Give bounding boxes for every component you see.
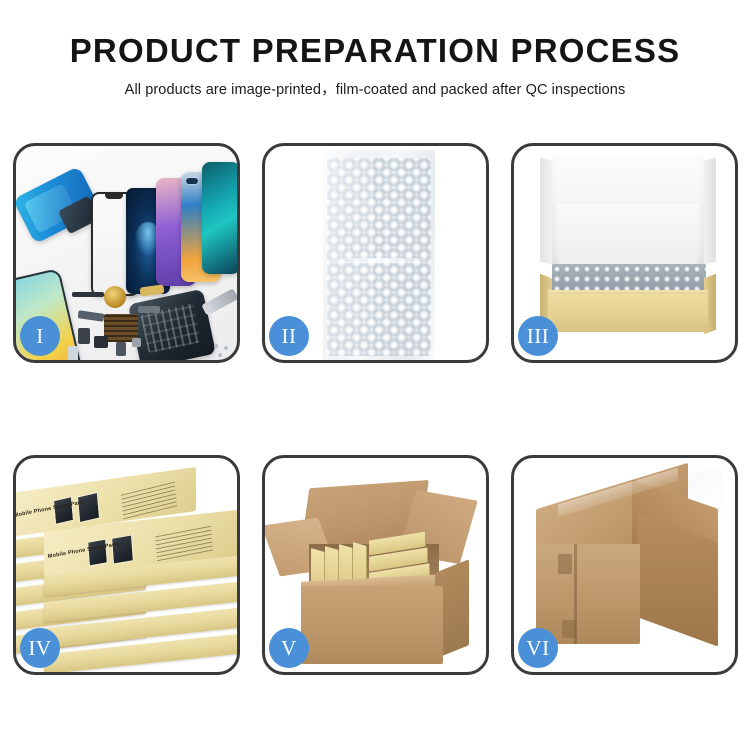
chip-part-1 bbox=[78, 328, 90, 344]
page-header: PRODUCT PREPARATION PROCESS All products… bbox=[0, 0, 750, 99]
step-badge-6: VI bbox=[518, 628, 558, 668]
sealed-carton-front bbox=[536, 544, 640, 644]
chip-part-5 bbox=[68, 346, 78, 360]
chip-part-3 bbox=[116, 342, 126, 356]
tweezers-tool bbox=[201, 288, 237, 315]
step-badge-3: III bbox=[518, 316, 558, 356]
flex-cable-part-left bbox=[78, 310, 105, 322]
box-foam-liner bbox=[558, 204, 698, 266]
flex-cable-part-right-lower bbox=[138, 306, 160, 313]
phone-teal-wallpaper-graphic bbox=[202, 162, 237, 274]
process-step-panel-2[interactable]: II bbox=[262, 143, 489, 363]
step-badge-2: II bbox=[269, 316, 309, 356]
bubble-wrap-sheen bbox=[323, 146, 373, 360]
flex-cable-part-middle bbox=[72, 292, 104, 297]
carton-front bbox=[301, 586, 443, 664]
process-step-panel-5[interactable]: V bbox=[262, 455, 489, 675]
process-step-panel-6[interactable]: VI bbox=[511, 455, 738, 675]
carton-handle-slot-upper bbox=[558, 554, 572, 574]
process-step-panel-4[interactable]: Mobile Phone Spare Parts Mobile Phone Sp… bbox=[13, 455, 240, 675]
step-badge-4: IV bbox=[20, 628, 60, 668]
process-step-panel-3[interactable]: III bbox=[511, 143, 738, 363]
speaker-coil-part bbox=[104, 286, 126, 308]
phone-back-housing-graphic bbox=[128, 289, 216, 360]
chip-part-2 bbox=[94, 336, 108, 348]
carton-handle-slot-lower bbox=[562, 620, 576, 638]
chip-part-4 bbox=[132, 338, 141, 347]
box-print-screen-1b bbox=[77, 492, 100, 523]
process-step-panel-1[interactable]: I bbox=[13, 143, 240, 363]
kraft-box-front bbox=[548, 294, 708, 332]
process-step-grid: I II III bbox=[13, 143, 737, 675]
flex-cable-part-right bbox=[139, 284, 164, 296]
screws-part bbox=[212, 342, 234, 360]
step-badge-5: V bbox=[269, 628, 309, 668]
page-subtitle: All products are image-printed，film-coat… bbox=[0, 78, 750, 99]
box-print-screen-2b bbox=[111, 534, 134, 564]
step-badge-1: I bbox=[20, 316, 60, 356]
page-title: PRODUCT PREPARATION PROCESS bbox=[0, 34, 750, 69]
